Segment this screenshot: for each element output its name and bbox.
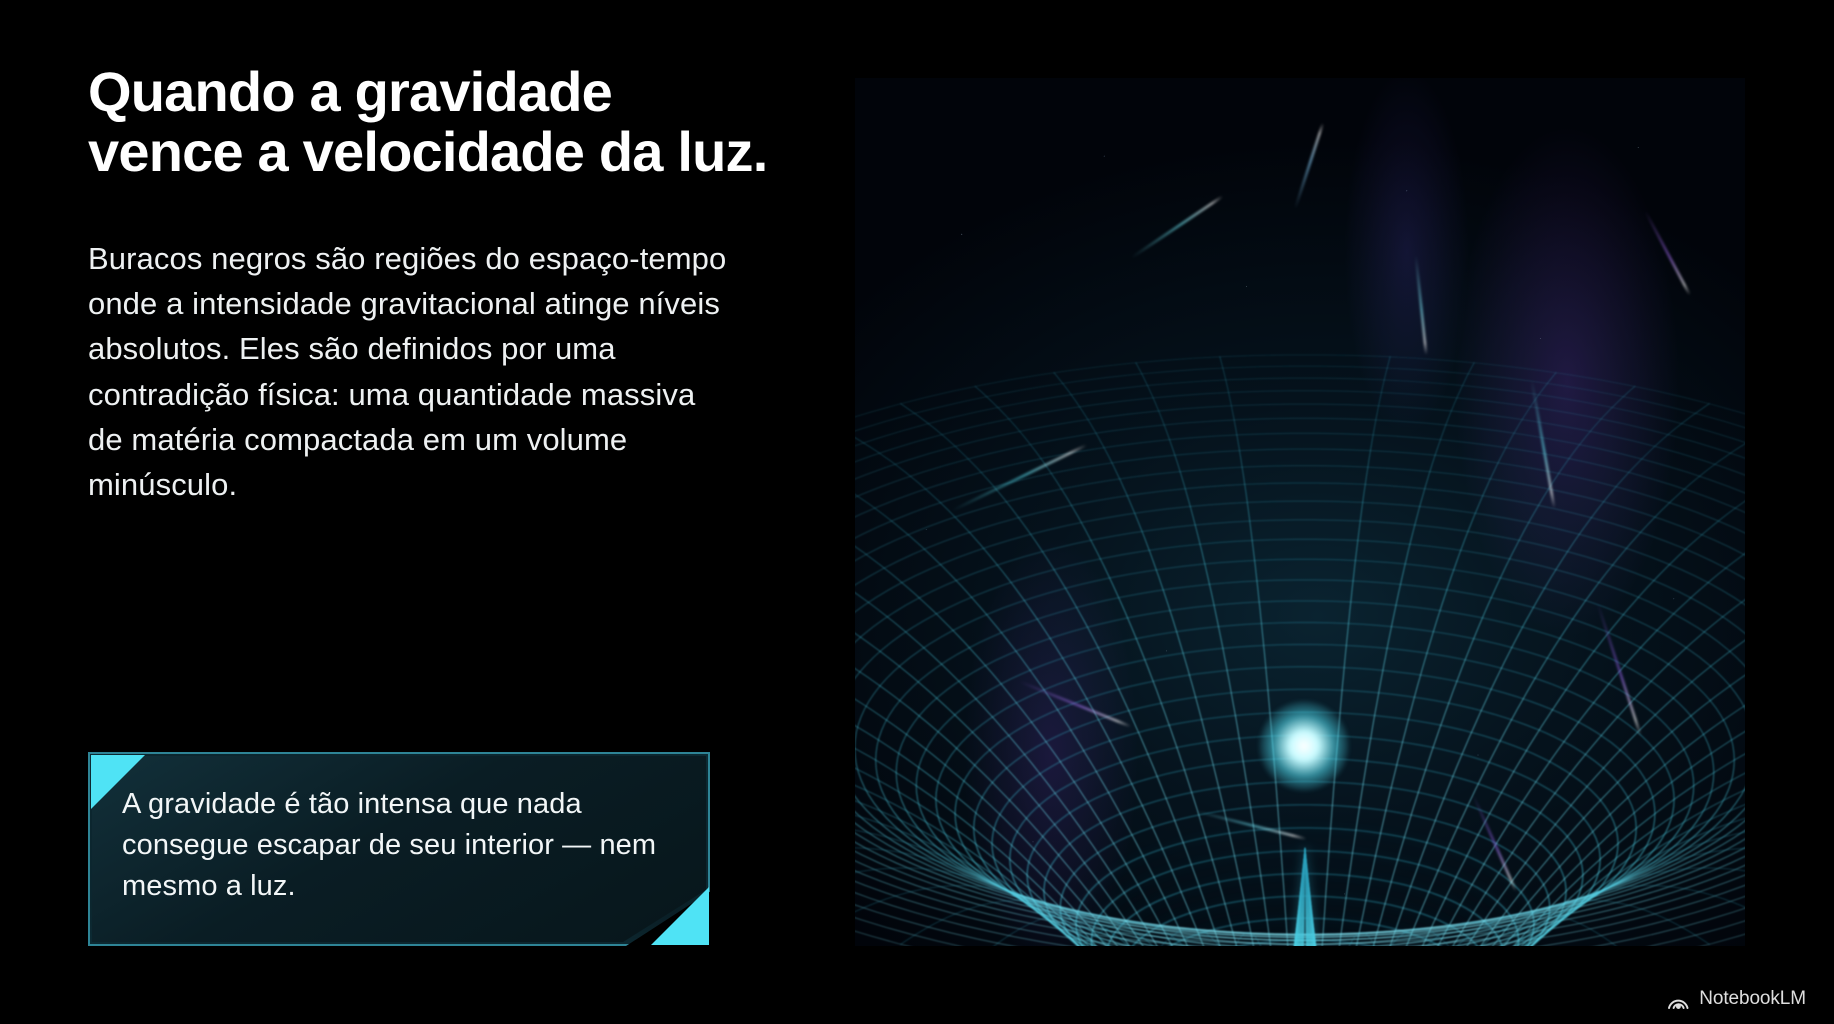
slide-root: Quando a gravidade vence a velocidade da… [0,0,1834,1024]
spacetime-funnel-image [855,78,1745,946]
notebooklm-arc-icon [1667,989,1690,1010]
watermark-label: NotebookLM [1699,988,1806,1010]
body-paragraph: Buracos negros são regiões do espaço-tem… [88,236,728,508]
callout-text: A gravidade é tão intensa que nada conse… [88,752,710,908]
page-title: Quando a gravidade vence a velocidade da… [88,62,778,182]
notebooklm-watermark: NotebookLM [1667,988,1806,1010]
callout-box: A gravidade é tão intensa que nada conse… [88,752,710,946]
spacetime-grid [855,78,1745,946]
